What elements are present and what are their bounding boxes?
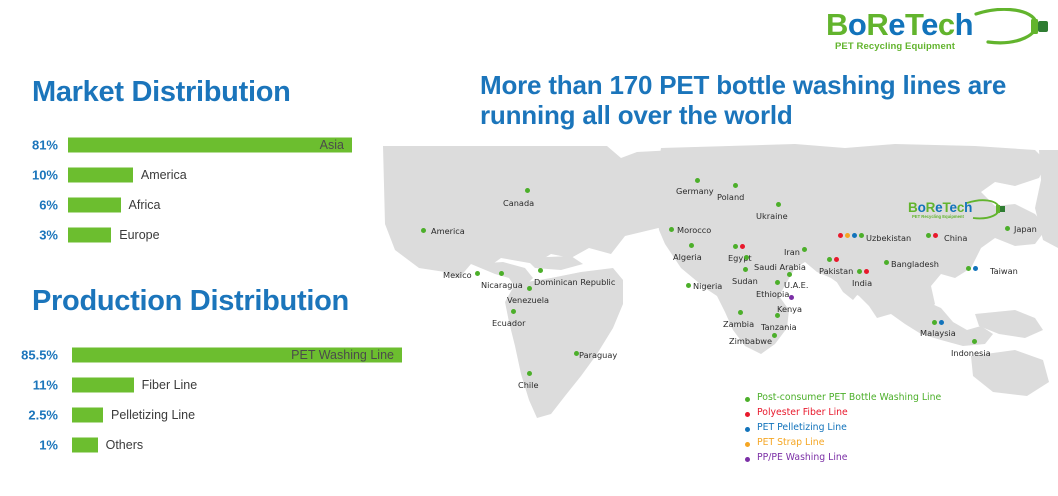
map-label-paraguay: Paraguay	[579, 350, 617, 360]
bar-label: Africa	[129, 198, 161, 212]
map-label-india: India	[852, 278, 872, 288]
map-watermark-logo: BoReTech PET Recycling Equipment	[908, 200, 1004, 226]
map-label-morocco: Morocco	[677, 225, 711, 235]
map-dot-nigeria	[686, 283, 691, 288]
map-dot-tanzania	[775, 313, 780, 318]
bar	[68, 198, 121, 213]
map-label-indonesia: Indonesia	[951, 348, 991, 358]
logo-tagline: PET Recycling Equipment	[835, 41, 955, 52]
bar-label: Pelletizing Line	[111, 408, 195, 422]
map-dot-taiwan	[966, 266, 971, 271]
map-dot-sudan	[743, 267, 748, 272]
bar	[68, 138, 352, 153]
map-dot-uzbekistan	[845, 233, 850, 238]
map-label-canada: Canada	[503, 198, 534, 208]
map-label-venezuela: Venezuela	[507, 295, 549, 305]
map-dot-india	[864, 269, 869, 274]
map-label-germany: Germany	[676, 186, 714, 196]
map-dot-china	[926, 233, 931, 238]
map-dot-malaysia	[932, 320, 937, 325]
map-dot-chile	[527, 371, 532, 376]
map-label-taiwan: Taiwan	[990, 266, 1018, 276]
map-dot-iran	[802, 247, 807, 252]
map-dot-germany	[695, 178, 700, 183]
map-label-dominican-republic: Dominican Republic	[534, 277, 615, 287]
map-label-zimbabwe: Zimbabwe	[729, 336, 772, 346]
bar	[68, 168, 133, 183]
map-label-iran: Iran	[784, 247, 800, 257]
boretech-logo: BoReTech PET Recycling Equipment	[826, 8, 1050, 54]
market-distribution-title: Market Distribution	[32, 76, 291, 109]
infographic-page: BoReTech PET Recycling Equipment Market …	[0, 0, 1058, 496]
bar-percent: 85.5%	[21, 348, 58, 363]
map-dot-morocco	[669, 227, 674, 232]
map-dot-algeria	[689, 243, 694, 248]
map-label-saudi-arabia: Saudi Arabia	[754, 262, 806, 272]
bar-percent: 3%	[39, 228, 58, 243]
map-label-china: China	[944, 233, 967, 243]
legend-dot	[745, 412, 750, 417]
map-label-bangladesh: Bangladesh	[891, 259, 939, 269]
map-dot-saudi-arabia	[744, 255, 749, 260]
bar-percent-wrap: 10%	[0, 160, 58, 190]
logo-wordmark: BoReTech	[826, 8, 973, 42]
map-dot-uzbekistan	[859, 233, 864, 238]
map-dot-bangladesh	[884, 260, 889, 265]
map-dot-mexico	[475, 271, 480, 276]
legend-label: Polyester Fiber Line	[757, 407, 848, 418]
map-dot-dominican-republic	[538, 268, 543, 273]
map-label-america: America	[431, 226, 465, 236]
bar-percent-wrap: 81%	[0, 130, 58, 160]
map-label-ethiopia: Ethiopia	[756, 289, 789, 299]
map-dot-zambia	[738, 310, 743, 315]
bar-percent-wrap: 3%	[0, 220, 58, 250]
map-dot-malaysia	[939, 320, 944, 325]
legend-dot	[745, 397, 750, 402]
map-dot-taiwan	[973, 266, 978, 271]
map-label-uzbekistan: Uzbekistan	[866, 233, 911, 243]
legend-label: PET Strap Line	[757, 437, 824, 448]
map-watermark-tagline: PET Recycling Equipment	[912, 214, 964, 219]
map-label-chile: Chile	[518, 380, 539, 390]
map-label-zambia: Zambia	[723, 319, 754, 329]
map-dot-venezuela	[527, 286, 532, 291]
bar-percent-wrap: 1%	[0, 430, 58, 460]
legend-dot	[745, 427, 750, 432]
map-label-mexico: Mexico	[443, 270, 472, 280]
bar	[68, 228, 111, 243]
map-label-poland: Poland	[717, 192, 744, 202]
legend-dot	[745, 442, 750, 447]
world-map: BoReTech PET Recycling Equipment CanadaA…	[375, 128, 1058, 496]
map-label-kenya: Kenya	[777, 304, 802, 314]
map-dot-uzbekistan	[852, 233, 857, 238]
map-dot-canada	[525, 188, 530, 193]
production-distribution-title: Production Distribution	[32, 285, 349, 318]
bar-percent: 10%	[32, 168, 58, 183]
map-label-ukraine: Ukraine	[756, 211, 788, 221]
map-label-nigeria: Nigeria	[693, 281, 722, 291]
map-watermark-wordmark: BoReTech	[908, 200, 972, 215]
map-dot-ecuador	[511, 309, 516, 314]
map-dot-america	[421, 228, 426, 233]
map-dot-indonesia	[972, 339, 977, 344]
map-dot-pakistan	[827, 257, 832, 262]
map-dot-ukraine	[776, 202, 781, 207]
bar-percent: 2.5%	[28, 408, 58, 423]
headline: More than 170 PET bottle washing lines a…	[480, 70, 1040, 130]
map-label-algeria: Algeria	[673, 252, 702, 262]
world-map-landmass	[375, 128, 1058, 496]
legend-dot	[745, 457, 750, 462]
map-dot-u-a-e	[787, 272, 792, 277]
map-dot-nicaragua	[499, 271, 504, 276]
bar-percent: 11%	[33, 378, 58, 393]
map-dot-egypt	[740, 244, 745, 249]
legend-label: Post-consumer PET Bottle Washing Line	[757, 392, 941, 403]
bar-percent-wrap: 6%	[0, 190, 58, 220]
map-dot-ethiopia	[775, 280, 780, 285]
map-dot-egypt	[733, 244, 738, 249]
bar	[72, 378, 134, 393]
map-label-pakistan: Pakistan	[819, 266, 853, 276]
bar-label: Asia	[320, 138, 344, 152]
map-label-sudan: Sudan	[732, 276, 758, 286]
bar	[72, 438, 98, 453]
map-dot-zimbabwe	[772, 333, 777, 338]
map-watermark-bottle-icon	[966, 199, 1006, 221]
map-label-nicaragua: Nicaragua	[481, 280, 523, 290]
legend-label: PP/PE Washing Line	[757, 452, 848, 463]
bar-label: Europe	[119, 228, 159, 242]
map-dot-china	[933, 233, 938, 238]
bottle-icon	[974, 8, 1050, 48]
bar-label: America	[141, 168, 187, 182]
bar-percent: 6%	[39, 198, 58, 213]
bar	[72, 408, 103, 423]
bar-percent-wrap: 11%	[0, 370, 58, 400]
map-label-japan: Japan	[1014, 224, 1037, 234]
map-dot-uzbekistan	[838, 233, 843, 238]
bar-percent-wrap: 85.5%	[0, 340, 58, 370]
legend-label: PET Pelletizing Line	[757, 422, 847, 433]
map-label-tanzania: Tanzania	[761, 322, 797, 332]
map-dot-japan	[1005, 226, 1010, 231]
bar-percent: 1%	[39, 438, 58, 453]
bar-percent: 81%	[32, 138, 58, 153]
map-dot-pakistan	[834, 257, 839, 262]
map-dot-india	[857, 269, 862, 274]
map-label-ecuador: Ecuador	[492, 318, 525, 328]
map-label-malaysia: Malaysia	[920, 328, 956, 338]
map-dot-poland	[733, 183, 738, 188]
map-dot-kenya	[789, 295, 794, 300]
bar-label: Fiber Line	[142, 378, 198, 392]
bar-label: Others	[106, 438, 144, 452]
bar-percent-wrap: 2.5%	[0, 400, 58, 430]
